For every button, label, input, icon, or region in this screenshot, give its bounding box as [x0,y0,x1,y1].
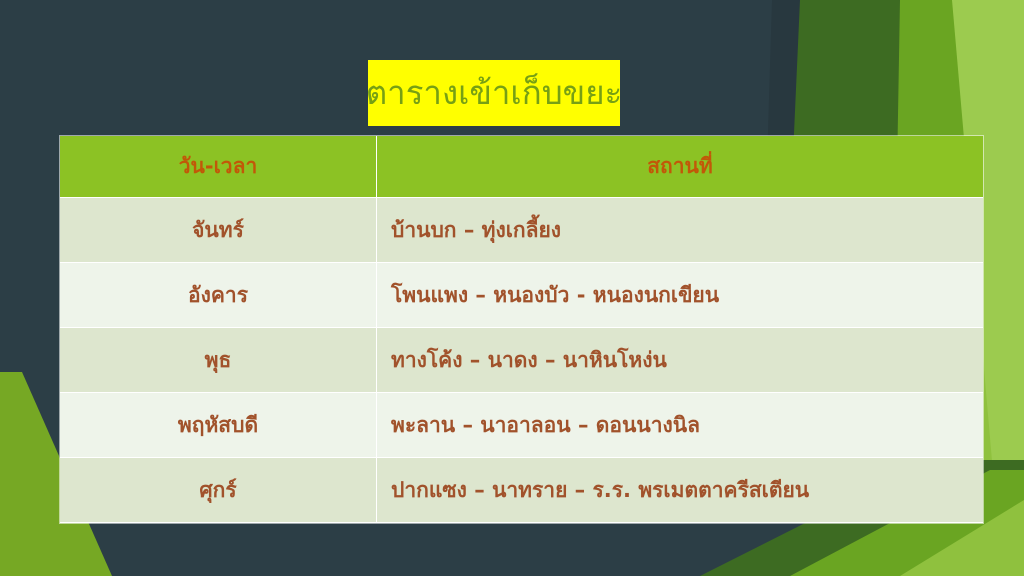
table-header-row: วัน-เวลา สถานที่ [60,136,983,198]
table-row: พฤหัสบดี พะลาน – นาอาลอน – ดอนนางนิล [60,393,983,458]
cell-place: โพนแพง – หนองบัว - หนองนกเขียน [377,263,983,328]
cell-day: ศุกร์ [60,458,377,523]
cell-place: ปากแซง – นาทราย – ร.ร. พรเมตตาครีสเตียน [377,458,983,523]
cell-day: พฤหัสบดี [60,393,377,458]
cell-place: ทางโค้ง – นาดง – นาหินโหง่น [377,328,983,393]
cell-day: พุธ [60,328,377,393]
cell-place: บ้านบก – ทุ่งเกลี้ยง [377,198,983,263]
column-header-day-time: วัน-เวลา [60,136,377,198]
garbage-collection-schedule-table: วัน-เวลา สถานที่ จันทร์ บ้านบก – ทุ่งเกล… [60,136,983,523]
column-header-location: สถานที่ [377,136,983,198]
cell-day: อังคาร [60,263,377,328]
page-title: ตารางเข้าเก็บขยะ [366,76,623,111]
slide-title-box: ตารางเข้าเก็บขยะ [368,60,620,126]
table-row: อังคาร โพนแพง – หนองบัว - หนองนกเขียน [60,263,983,328]
table-header: วัน-เวลา สถานที่ [60,136,983,198]
slide-canvas: ตารางเข้าเก็บขยะ วัน-เวลา สถานที่ จันทร์… [0,0,1024,576]
table-row: พุธ ทางโค้ง – นาดง – นาหินโหง่น [60,328,983,393]
cell-place: พะลาน – นาอาลอน – ดอนนางนิล [377,393,983,458]
table-row: จันทร์ บ้านบก – ทุ่งเกลี้ยง [60,198,983,263]
table-row: ศุกร์ ปากแซง – นาทราย – ร.ร. พรเมตตาครีส… [60,458,983,523]
cell-day: จันทร์ [60,198,377,263]
table-body: จันทร์ บ้านบก – ทุ่งเกลี้ยง อังคาร โพนแพ… [60,198,983,523]
